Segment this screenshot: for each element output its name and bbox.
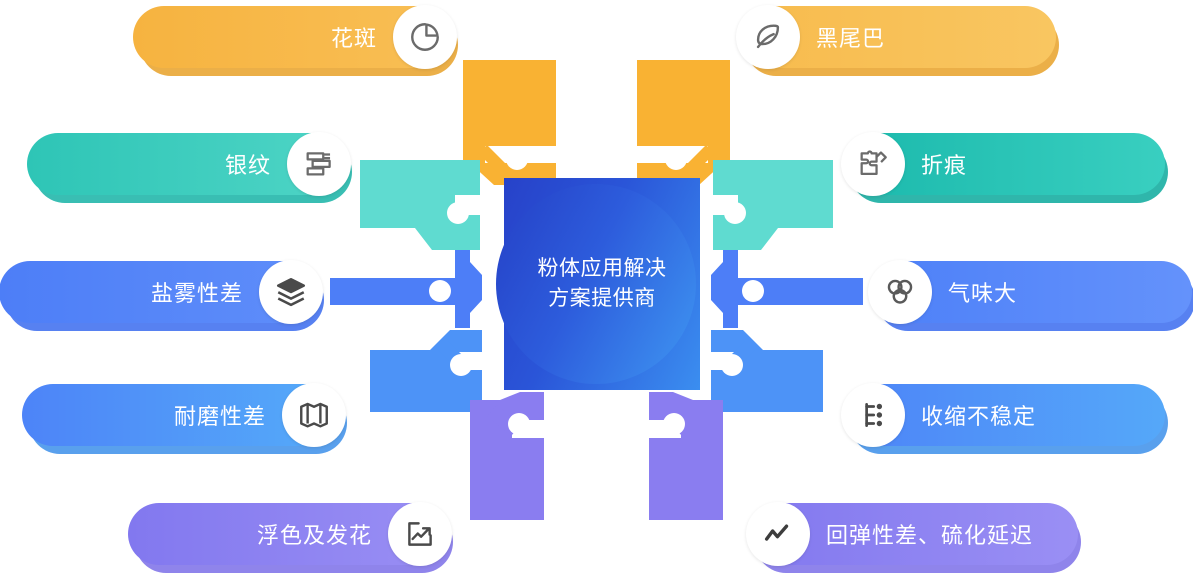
node-hui-tan-xing-cha[interactable]: 回弹性差、硫化延迟 xyxy=(748,503,1078,565)
recycle-icon xyxy=(868,260,932,324)
connector-hei-wei-ba xyxy=(637,60,730,185)
node-qi-wei-da[interactable]: 气味大 xyxy=(870,261,1192,323)
trending-up-box-icon xyxy=(388,502,452,566)
node-label: 盐雾性差 xyxy=(151,276,243,308)
sitemap-icon xyxy=(841,383,905,447)
layers-icon xyxy=(259,260,323,324)
node-label: 花斑 xyxy=(331,21,377,53)
infographic-canvas: 粉体应用解决 方案提供商 花斑 黑尾巴 银纹 xyxy=(0,0,1193,577)
center-node: 粉体应用解决 方案提供商 xyxy=(504,178,700,390)
node-fu-se-ji-fa-hua[interactable]: 浮色及发花 xyxy=(128,503,450,565)
connector-fu-se-ji-fa-hua xyxy=(470,392,544,520)
node-label: 浮色及发花 xyxy=(257,518,372,550)
pie-chart-icon xyxy=(393,5,457,69)
center-title: 粉体应用解决 方案提供商 xyxy=(504,178,700,390)
connector-shou-suo-bu-wen-ding xyxy=(711,330,823,412)
connector-yin-wen xyxy=(360,160,480,250)
line-chart-icon xyxy=(746,502,810,566)
node-label: 回弹性差、硫化延迟 xyxy=(826,518,1033,550)
node-label: 黑尾巴 xyxy=(816,21,885,53)
connector-hua-ban xyxy=(463,60,556,185)
node-shou-suo-bu-wen-ding[interactable]: 收缩不稳定 xyxy=(843,384,1165,446)
node-label: 气味大 xyxy=(948,276,1017,308)
connector-yan-wu-xing-cha xyxy=(330,250,482,328)
connector-zhe-hen xyxy=(713,160,833,250)
brick-wall-icon xyxy=(287,132,351,196)
node-nai-mo-xing-cha[interactable]: 耐磨性差 xyxy=(22,384,344,446)
node-label: 折痕 xyxy=(921,148,967,180)
node-hei-wei-ba[interactable]: 黑尾巴 xyxy=(738,6,1056,68)
node-label: 银纹 xyxy=(225,148,271,180)
leaf-icon xyxy=(736,5,800,69)
node-yan-wu-xing-cha[interactable]: 盐雾性差 xyxy=(0,261,321,323)
node-yin-wen[interactable]: 银纹 xyxy=(27,133,349,195)
connector-hui-tan-xing-cha xyxy=(649,392,723,520)
map-icon xyxy=(282,383,346,447)
node-label: 耐磨性差 xyxy=(174,399,266,431)
node-label: 收缩不稳定 xyxy=(921,399,1036,431)
puzzle-piece-icon xyxy=(841,132,905,196)
node-hua-ban[interactable]: 花斑 xyxy=(133,6,455,68)
connector-qi-wei-da xyxy=(711,250,863,328)
node-zhe-hen[interactable]: 折痕 xyxy=(843,133,1165,195)
connector-nai-mo-xing-cha xyxy=(370,330,482,412)
